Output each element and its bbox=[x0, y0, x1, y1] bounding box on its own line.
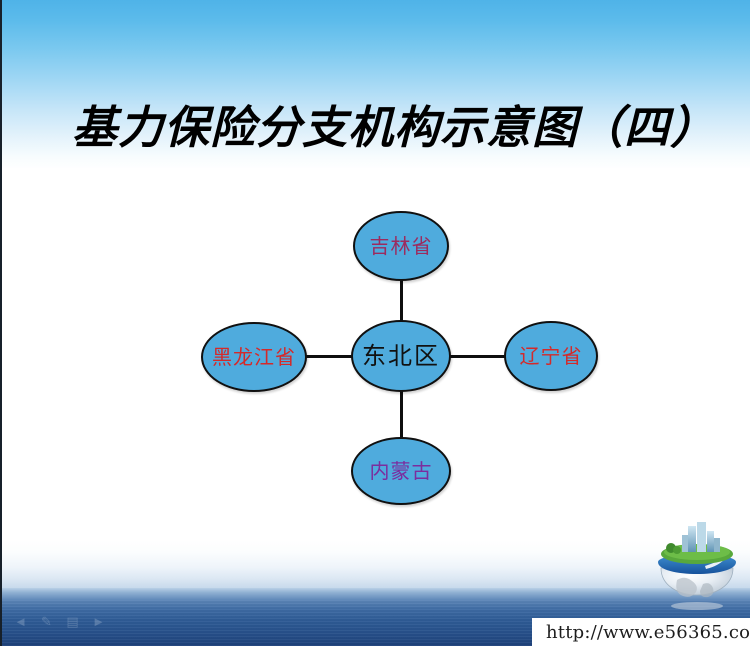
previous-icon[interactable]: ◄ bbox=[12, 614, 29, 629]
pen-icon[interactable]: ✎ bbox=[38, 614, 55, 629]
node-liaoning-label: 辽宁省 bbox=[520, 346, 583, 366]
presentation-slide: 基力保险分支机构示意图（四） 吉林省 黑龙江省 东北区 辽宁省 内蒙古 bbox=[0, 0, 750, 646]
node-jilin-label: 吉林省 bbox=[370, 236, 433, 256]
node-northeast-region[interactable]: 东北区 bbox=[351, 320, 451, 392]
website-url-text: http://www.e56365.com bbox=[546, 622, 750, 643]
connector-center-to-top bbox=[400, 276, 403, 326]
node-liaoning[interactable]: 辽宁省 bbox=[504, 321, 598, 391]
org-chart-diagram: 吉林省 黑龙江省 东北区 辽宁省 内蒙古 bbox=[2, 0, 750, 646]
menu-icon[interactable]: ▤ bbox=[64, 614, 81, 629]
connector-center-to-left bbox=[302, 355, 358, 358]
website-url-box[interactable]: http://www.e56365.com bbox=[532, 618, 750, 646]
node-inner-mongolia[interactable]: 内蒙古 bbox=[351, 437, 451, 505]
connector-center-to-bottom bbox=[400, 386, 403, 441]
globe-city-logo bbox=[647, 522, 747, 618]
node-heilongjiang-label: 黑龙江省 bbox=[212, 347, 296, 367]
node-northeast-region-label: 东北区 bbox=[362, 344, 440, 368]
next-icon[interactable]: ► bbox=[90, 614, 107, 629]
node-inner-mongolia-label: 内蒙古 bbox=[370, 461, 433, 481]
slideshow-nav-bar[interactable]: ◄ ✎ ▤ ► bbox=[12, 614, 107, 629]
node-jilin[interactable]: 吉林省 bbox=[353, 211, 449, 281]
connector-center-to-right bbox=[444, 355, 508, 358]
node-heilongjiang[interactable]: 黑龙江省 bbox=[201, 322, 307, 392]
